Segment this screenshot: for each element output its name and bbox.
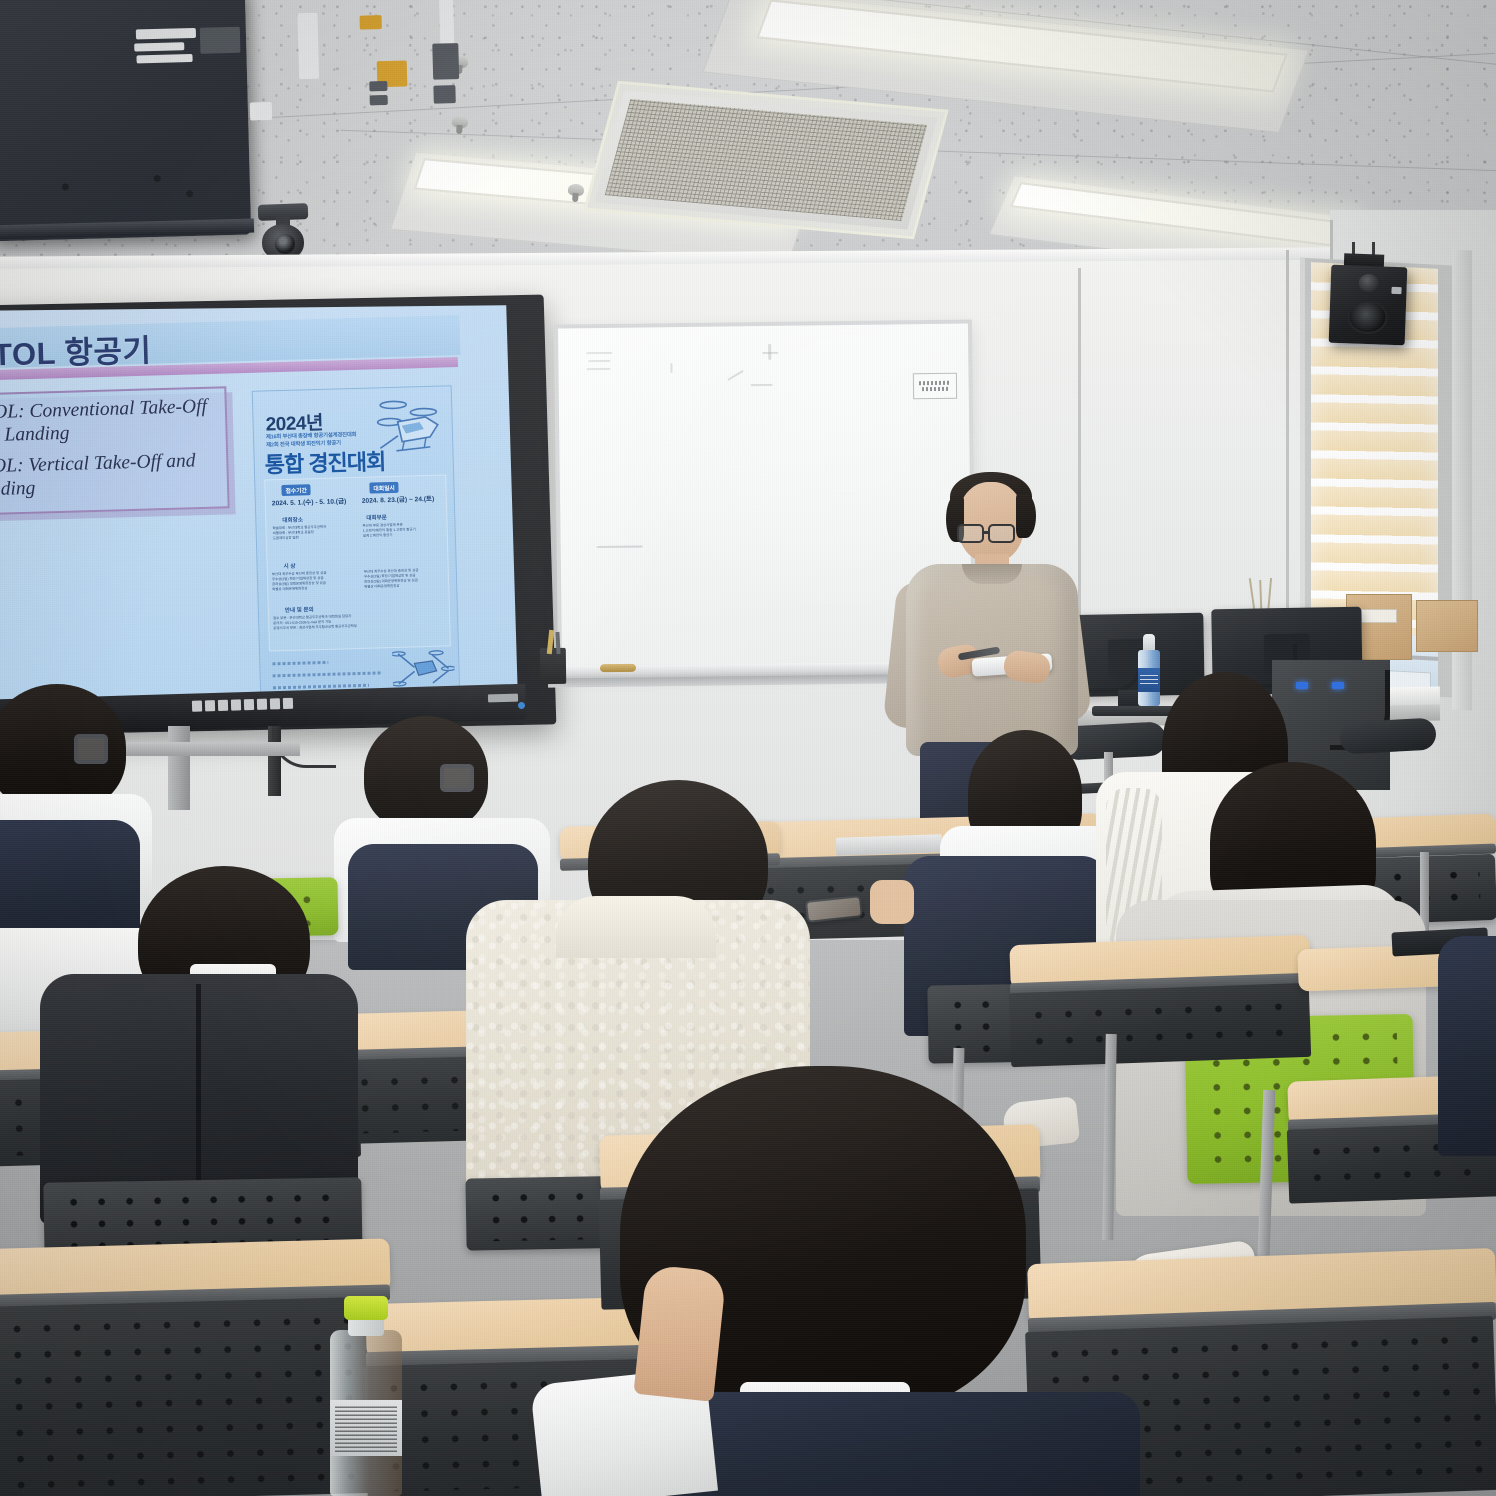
pen-holder[interactable] bbox=[540, 648, 566, 684]
poster-detail-panel: 접수기간 2024. 5. 1.(수) - 5. 10.(금) 대회일시 202… bbox=[264, 474, 451, 651]
poster-event-dates: 2024. 8. 23.(금) ~ 24.(토) bbox=[362, 493, 435, 505]
cardboard-box bbox=[1416, 600, 1478, 652]
poster-place-label: 대회장소 bbox=[282, 515, 303, 524]
board-button-volume-down[interactable] bbox=[270, 698, 280, 709]
poster-contact-text: 접수 부문 : 부산대학교 항공우주공학과 대학원실 담당자 문의처 : 051… bbox=[273, 611, 449, 631]
instructor-head bbox=[958, 482, 1024, 562]
eyeglasses-icon bbox=[74, 734, 108, 764]
sprinkler-head bbox=[452, 115, 469, 128]
eyeglasses-bridge bbox=[984, 531, 990, 534]
student-vest bbox=[1438, 936, 1496, 1156]
poster-contact-label: 안내 및 문의 bbox=[285, 605, 314, 614]
classroom-photo: CTOL 항공기 CTOL: Conventional Take-Off and… bbox=[0, 0, 1496, 1496]
board-button-power[interactable] bbox=[192, 700, 202, 711]
poster-awards-text: 부산대 최우수상 부산대 총장상 및 상금 우수상(2팀) 학장/기업체상장 및… bbox=[272, 570, 361, 592]
eyeglasses-icon bbox=[440, 764, 474, 792]
poster-apply-dates: 2024. 5. 1.(수) - 5. 10.(금) bbox=[272, 495, 347, 507]
sanitizer-label bbox=[1138, 668, 1160, 692]
whiteboard-notice-sign bbox=[913, 373, 957, 400]
jacket-seam bbox=[196, 984, 201, 1212]
poster-division-label: 대회부문 bbox=[366, 513, 387, 522]
student-hand bbox=[633, 1264, 726, 1402]
poster-place-text: 학술대회 : 부산대학교 항공우주공학과 비행대회 : 부산대학교 운동장 드론… bbox=[273, 524, 357, 541]
board-button-down[interactable] bbox=[244, 699, 254, 710]
board-button-source[interactable] bbox=[205, 700, 215, 711]
board-button-up[interactable] bbox=[231, 699, 241, 710]
fleece-collar bbox=[556, 896, 716, 958]
drone-illustration bbox=[392, 644, 455, 692]
board-button-menu[interactable] bbox=[218, 700, 228, 711]
speaker-brand-badge bbox=[1391, 287, 1401, 294]
board-button-home[interactable] bbox=[283, 698, 293, 709]
office-chair-seat[interactable] bbox=[1339, 718, 1437, 755]
desk-modesty-panel bbox=[1009, 983, 1311, 1067]
slide-definition-vtol: VTOL: Vertical Take-Off and Landing bbox=[0, 448, 231, 501]
board-button-volume-up[interactable] bbox=[257, 699, 267, 710]
board-brand-logo bbox=[488, 694, 518, 703]
ceiling-display-rear-panel bbox=[0, 0, 251, 241]
bottle-cap[interactable] bbox=[344, 1296, 388, 1320]
bottle-label bbox=[330, 1400, 402, 1456]
poster-event-label: 대회일시 bbox=[369, 482, 399, 494]
sprinkler-head bbox=[568, 183, 585, 196]
student-hand bbox=[870, 880, 914, 924]
wall-speaker bbox=[1329, 265, 1408, 346]
instructor-hair-side bbox=[1016, 494, 1036, 538]
slide-definition-ctol: CTOL: Conventional Take-Off and Landing bbox=[0, 394, 231, 447]
board-stand-column bbox=[168, 726, 190, 810]
box-label bbox=[1361, 609, 1397, 623]
eyeglasses-icon bbox=[988, 524, 1015, 543]
poster-apply-label: 접수기간 bbox=[281, 484, 311, 496]
camera-lens-icon bbox=[275, 234, 295, 254]
board-base bbox=[120, 742, 300, 756]
competition-poster: 2024년 제16회 부산대 총장배 항공기설계경진대회 제2회 전국 대학생 … bbox=[252, 385, 461, 700]
whiteboard-marker[interactable] bbox=[600, 664, 636, 672]
poster-awards-label: 시 상 bbox=[284, 562, 296, 570]
keyboard[interactable] bbox=[836, 834, 943, 856]
eyeglasses-icon bbox=[957, 524, 984, 543]
speaker-woofer-icon bbox=[1347, 299, 1388, 334]
speaker-tweeter-icon bbox=[1358, 274, 1379, 293]
poster-awards-text-2: 부산대 최우수상 부산대 총장상 및 상금 우수상(2팀) 학장/기업체상장 및… bbox=[364, 567, 451, 589]
poster-main-title: 통합 경진대회 bbox=[264, 444, 385, 479]
poster-division-text: 부산대 부문 경상사업체 부문 1.고정익/회전익 통합 1.고정익 항공기 설… bbox=[362, 521, 448, 538]
